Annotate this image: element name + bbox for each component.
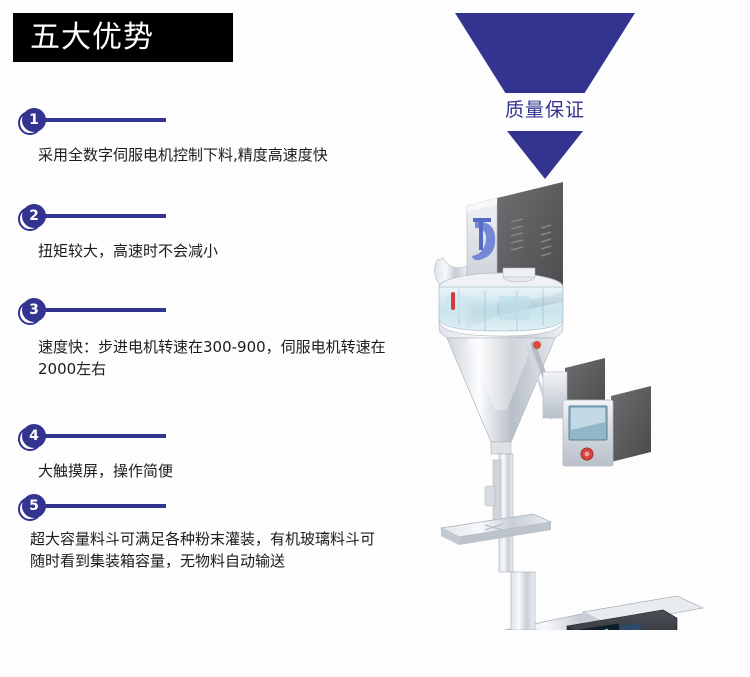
advantage-number-badge: 1 [22,108,46,132]
advantage-marker-4: 4 [18,424,168,452]
advantage-number-badge: 3 [22,298,46,322]
marker-rule [42,214,166,218]
strut-knob [533,341,541,349]
advantage-marker-5: 5 [18,494,168,522]
advantage-text: 超大容量料斗可满足各种粉末灌装，有机玻璃料斗可 随时看到集装箱容量，无物料自动输… [30,528,430,572]
advantage-text: 扭矩较大，高速时不会减小 [38,240,438,262]
advantages-list: 1 采用全数字伺服电机控制下料,精度高速度快 2 扭矩较大，高速时不会减小 3 … [0,0,440,677]
product-feature-page: 五大优势 1 采用全数字伺服电机控制下料,精度高速度快 2 扭矩较大，高速时不会… [0,0,750,677]
list-item: 5 超大容量料斗可满足各种粉末灌装，有机玻璃料斗可 随时看到集装箱容量，无物料自… [0,494,440,584]
advantage-text: 采用全数字伺服电机控制下料,精度高速度快 [38,144,438,166]
marker-rule [42,434,166,438]
marker-rule [42,504,166,508]
hmi-rear-shell [611,386,651,462]
advantage-number-badge: 4 [22,424,46,448]
advantage-text: 速度快：步进电机转速在300-900，伺服电机转速在 2000左右 [38,336,438,380]
advantage-marker-1: 1 [18,108,168,136]
funnel-shape-icon [455,13,635,93]
advantage-number-badge: 2 [22,204,46,228]
list-item: 3 速度快：步进电机转速在300-900，伺服电机转速在 2000左右 [0,298,440,388]
marker-rule [42,308,166,312]
advantage-text: 大触摸屏，操作简便 [38,460,438,482]
product-photo [415,160,750,630]
marker-rule [42,118,166,122]
list-item: 4 大触摸屏，操作简便 [0,424,440,494]
quality-badge-label: 质量保证 [455,97,635,123]
machine-illustration [415,160,750,630]
advantage-marker-2: 2 [18,204,168,232]
hopper-handle [451,292,455,310]
list-item: 1 采用全数字伺服电机控制下料,精度高速度快 [0,108,440,178]
list-item: 2 扭矩较大，高速时不会减小 [0,204,440,274]
quality-assurance-badge: 质量保证 [455,13,635,173]
advantage-marker-3: 3 [18,298,168,326]
advantage-number-badge: 5 [22,494,46,518]
auger-outlet [491,442,511,454]
base-column [511,572,535,630]
